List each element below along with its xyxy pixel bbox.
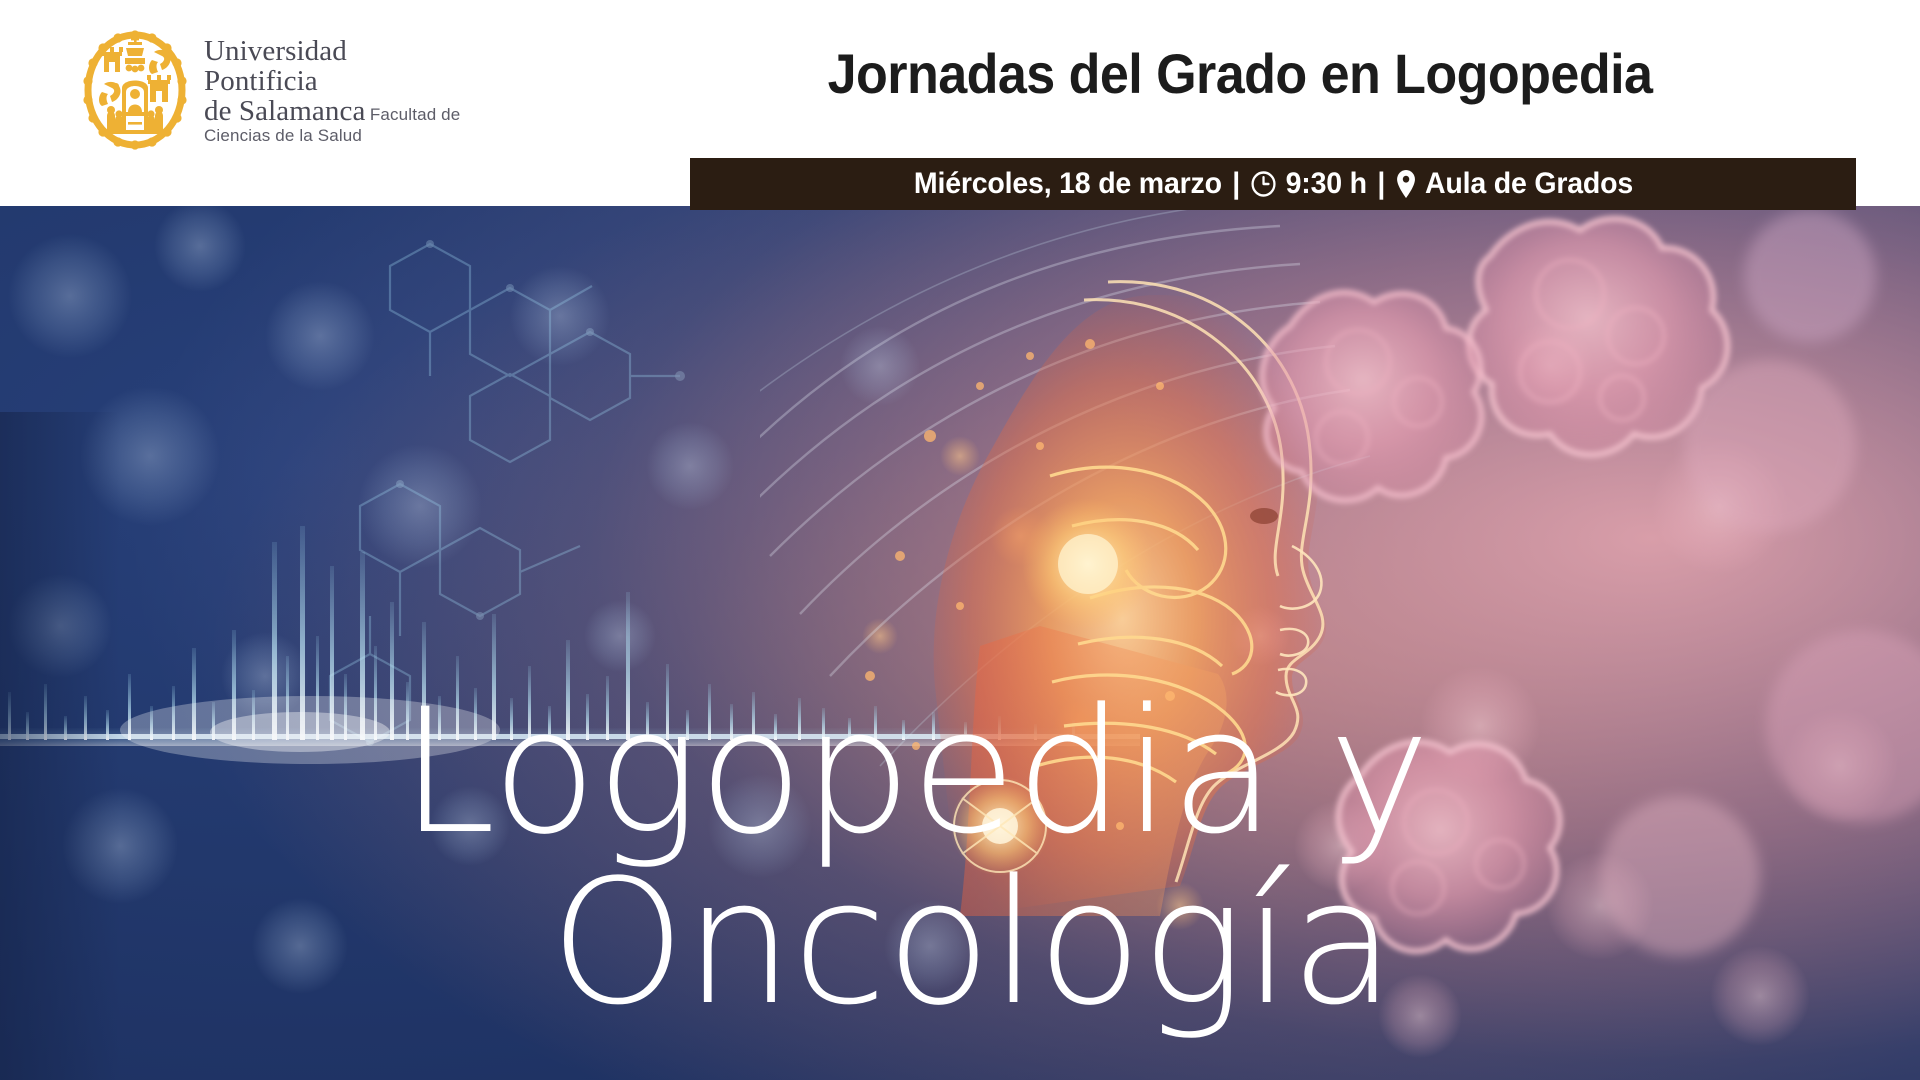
map-pin-icon	[1395, 169, 1416, 199]
university-name: Universidad Pontificia de Salamanca	[204, 35, 365, 127]
left-edge-vignette	[0, 412, 120, 1080]
university-logo[interactable]: Universidad Pontificia de Salamanca Facu…	[82, 30, 460, 150]
background-artwork	[0, 206, 1920, 1080]
event-time-label: 9:30 h	[1285, 167, 1366, 201]
separator-2: |	[1366, 167, 1395, 201]
event-title: Jornadas del Grado en Logopedia	[663, 46, 1816, 102]
event-details-bar: Miércoles, 18 de marzo | 9:30 h |	[690, 158, 1856, 210]
tumor-cells-icon	[1250, 206, 1920, 1016]
poster-root: Logopedia y Oncología	[0, 0, 1920, 1080]
university-wordmark: Universidad Pontificia de Salamanca Facu…	[204, 30, 460, 147]
event-date: Miércoles, 18 de marzo	[913, 167, 1221, 201]
upsa-crest-icon	[82, 30, 188, 150]
event-location: Aula de Grados	[1395, 167, 1632, 201]
event-location-label: Aula de Grados	[1425, 167, 1633, 201]
separator-1: |	[1221, 167, 1250, 201]
clock-icon	[1250, 170, 1277, 198]
event-time: 9:30 h	[1250, 167, 1366, 201]
event-date-label: Miércoles, 18 de marzo	[913, 167, 1221, 201]
